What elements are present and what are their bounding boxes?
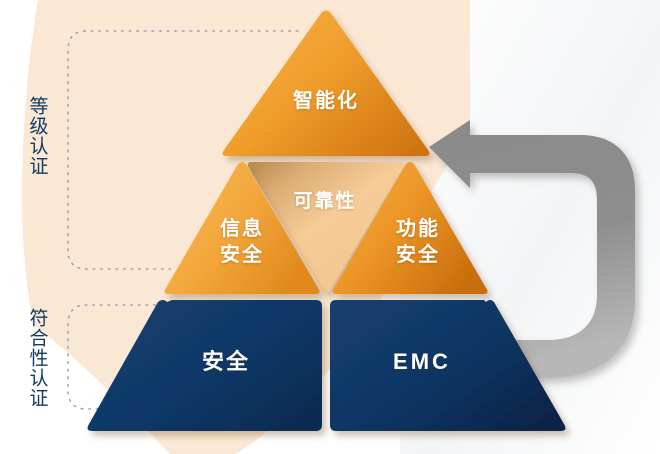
diagram-canvas: 智能化 信息 安全 可靠性 功能 安全 安全 EMC 等级认证 符合性认证 <box>0 0 660 454</box>
pyramid-graphic <box>0 0 660 454</box>
block-intelligence <box>223 11 430 157</box>
block-safety <box>88 300 322 431</box>
block-emc <box>330 300 565 431</box>
side-label-level-certification: 等级认证 <box>26 96 47 176</box>
side-label-conformance-certification: 符合性认证 <box>26 308 47 408</box>
